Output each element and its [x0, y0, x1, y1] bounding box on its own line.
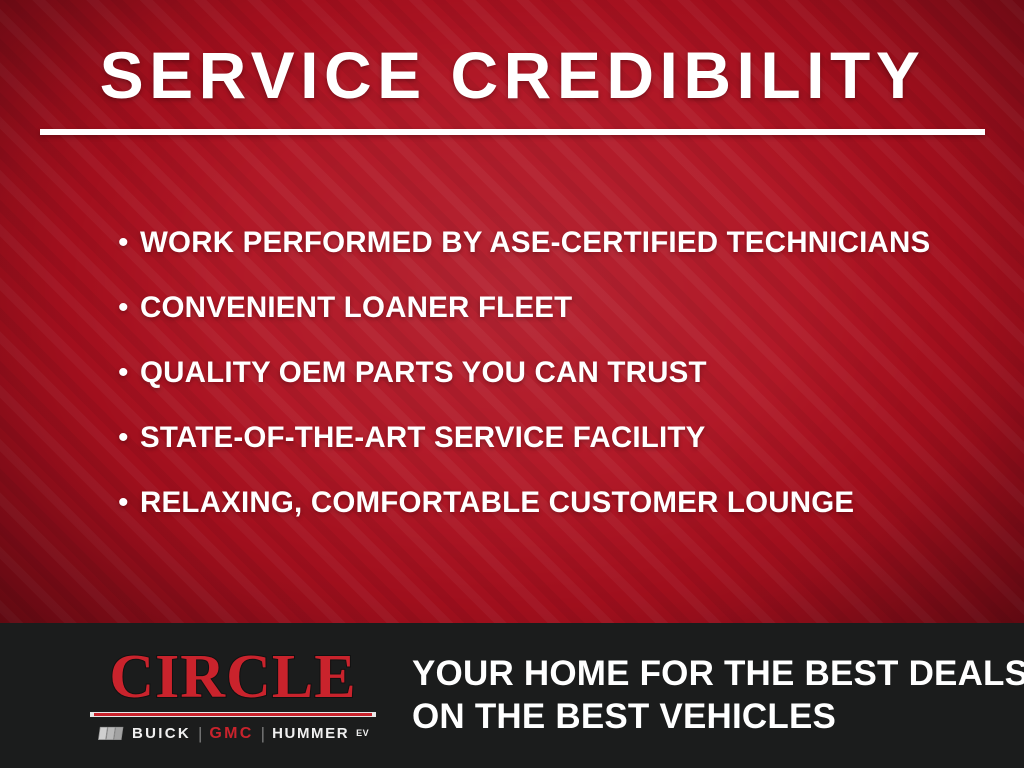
bullet-dot-icon: • [118, 228, 140, 258]
list-item: • WORK PERFORMED BY ASE-CERTIFIED TECHNI… [118, 226, 978, 291]
list-item: • CONVENIENT LOANER FLEET [118, 291, 978, 356]
list-item-label: STATE-OF-THE-ART SERVICE FACILITY [140, 421, 978, 455]
list-item: • QUALITY OEM PARTS YOU CAN TRUST [118, 356, 978, 421]
brand-label-gmc: GMC [209, 726, 253, 741]
bullet-dot-icon: • [118, 358, 140, 388]
bullet-dot-icon: • [118, 293, 140, 323]
buick-tri-shield-icon [97, 726, 125, 741]
footer-tagline-line-1: YOUR HOME FOR THE BEST DEALS [412, 652, 1002, 695]
dealer-logo-wordmark: CIRCLE [88, 646, 378, 708]
list-item: • RELAXING, COMFORTABLE CUSTOMER LOUNGE [118, 486, 978, 551]
footer-tagline: YOUR HOME FOR THE BEST DEALS ON THE BEST… [412, 652, 1002, 738]
service-credibility-slide: SERVICE CREDIBILITY • WORK PERFORMED BY … [0, 0, 1024, 768]
list-item: • STATE-OF-THE-ART SERVICE FACILITY [118, 421, 978, 486]
list-item-label: WORK PERFORMED BY ASE-CERTIFIED TECHNICI… [140, 226, 978, 260]
brand-label-hummer: HUMMER [272, 726, 349, 741]
dealer-logo: CIRCLE BUICK | GMC | HUMMER EV [88, 646, 378, 741]
list-item-label: CONVENIENT LOANER FLEET [140, 291, 978, 325]
bullet-dot-icon: • [118, 488, 140, 518]
feature-bullet-list: • WORK PERFORMED BY ASE-CERTIFIED TECHNI… [118, 226, 978, 551]
brand-label-hummer-ev-suffix: EV [356, 726, 369, 741]
logo-rule-inner [94, 713, 372, 716]
page-title: SERVICE CREDIBILITY [40, 36, 985, 114]
list-item-label: RELAXING, COMFORTABLE CUSTOMER LOUNGE [140, 486, 978, 520]
brand-strip: BUICK | GMC | HUMMER EV [88, 722, 378, 744]
brand-separator: | [261, 726, 265, 741]
brand-label-buick: BUICK [132, 726, 191, 741]
bullet-dot-icon: • [118, 423, 140, 453]
footer-tagline-line-2: ON THE BEST VEHICLES [412, 695, 1002, 738]
title-underline-rule [40, 129, 985, 135]
brand-separator: | [198, 726, 202, 741]
list-item-label: QUALITY OEM PARTS YOU CAN TRUST [140, 356, 978, 390]
